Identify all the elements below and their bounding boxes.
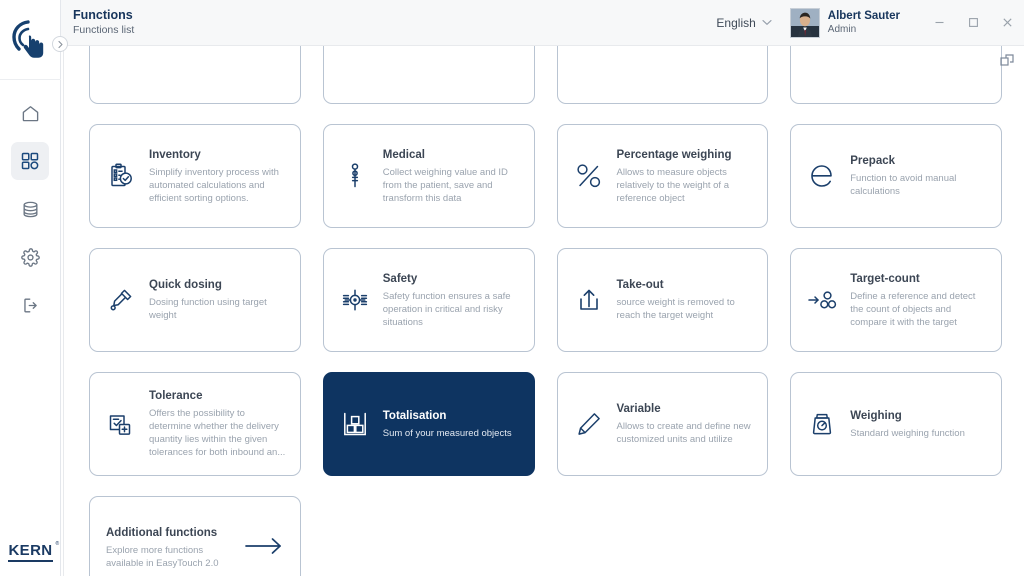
card-body: Take-out source weight is removed to rea… bbox=[617, 278, 756, 322]
pipette-icon bbox=[104, 283, 138, 317]
kern-logo-text: KERN bbox=[8, 542, 52, 559]
maximize-button[interactable] bbox=[956, 7, 990, 39]
card-title: Variable bbox=[617, 402, 756, 417]
percent-icon bbox=[572, 159, 606, 193]
e-mark-icon bbox=[805, 159, 839, 193]
card-description: Dosing function using target weight bbox=[149, 296, 288, 322]
card-body: Totalisation Sum of your measured object… bbox=[383, 409, 512, 440]
function-card-target-count[interactable]: Target-count Define a reference and dete… bbox=[790, 248, 1002, 352]
sidebar-item-database[interactable] bbox=[11, 190, 49, 228]
function-card-quick-dosing[interactable]: Quick dosing Dosing function using targe… bbox=[89, 248, 301, 352]
card-title: Additional functions bbox=[106, 526, 233, 541]
card-description: Explore more functions available in Easy… bbox=[106, 544, 233, 570]
clipboard-check-icon bbox=[104, 159, 138, 193]
card-body: Weighing Standard weighing function bbox=[850, 409, 965, 440]
function-card-take-out[interactable]: Take-out source weight is removed to rea… bbox=[557, 248, 769, 352]
card-description: source weight is removed to reach the ta… bbox=[617, 296, 756, 322]
function-card-clipped[interactable] bbox=[89, 46, 301, 104]
card-title: Quick dosing bbox=[149, 278, 288, 293]
gear-icon bbox=[21, 248, 40, 267]
card-description: Allows to create and define new customiz… bbox=[617, 420, 756, 446]
upload-out-icon bbox=[572, 283, 606, 317]
function-card-medical[interactable]: Medical Collect weighing value and ID fr… bbox=[323, 124, 535, 228]
sidebar-nav bbox=[0, 94, 60, 324]
card-body: Percentage weighing Allows to measure ob… bbox=[617, 148, 756, 205]
user-name: Albert Sauter bbox=[828, 9, 900, 23]
medical-pin-icon bbox=[338, 159, 372, 193]
card-title: Weighing bbox=[850, 409, 965, 424]
card-title: Medical bbox=[383, 148, 522, 163]
database-icon bbox=[21, 200, 40, 219]
function-card-clipped[interactable] bbox=[323, 46, 535, 104]
function-card-tolerance[interactable]: Tolerance Offers the possibility to dete… bbox=[89, 372, 301, 476]
kern-logo: KERN® bbox=[8, 542, 52, 562]
touch-hand-icon bbox=[10, 18, 50, 62]
user-profile[interactable]: Albert Sauter Admin bbox=[790, 8, 900, 38]
card-description: Collect weighing value and ID from the p… bbox=[383, 166, 522, 205]
card-title: Prepack bbox=[850, 154, 989, 169]
function-card-variable[interactable]: Variable Allows to create and define new… bbox=[557, 372, 769, 476]
page-title-block: Functions Functions list bbox=[73, 7, 134, 38]
user-avatar-image bbox=[791, 9, 819, 37]
apps-grid-icon bbox=[20, 151, 40, 171]
sidebar-item-settings[interactable] bbox=[11, 238, 49, 276]
card-body: Additional functions Explore more functi… bbox=[106, 526, 233, 570]
card-title: Tolerance bbox=[149, 389, 288, 404]
sidebar-collapse-toggle[interactable] bbox=[52, 36, 68, 52]
kern-logo-tm: ® bbox=[55, 541, 59, 547]
user-role: Admin bbox=[828, 23, 900, 36]
card-title: Target-count bbox=[850, 272, 989, 287]
card-description: Safety function ensures a safe operation… bbox=[383, 290, 522, 329]
function-card-weighing[interactable]: Weighing Standard weighing function bbox=[790, 372, 1002, 476]
card-description: Define a reference and detect the count … bbox=[850, 290, 989, 329]
card-body: Quick dosing Dosing function using targe… bbox=[149, 278, 288, 322]
function-card-totalisation[interactable]: Totalisation Sum of your measured object… bbox=[323, 372, 535, 476]
application-window: KERN® Functions Functions list English bbox=[0, 0, 1024, 576]
card-description: Standard weighing function bbox=[850, 427, 965, 440]
main-area: Functions Functions list English bbox=[61, 0, 1024, 576]
function-card-inventory[interactable]: Inventory Simplify inventory process wit… bbox=[89, 124, 301, 228]
card-description: Function to avoid manual calculations bbox=[850, 172, 989, 198]
minimize-icon bbox=[934, 17, 945, 28]
close-icon bbox=[1002, 17, 1013, 28]
chevron-right-icon bbox=[57, 40, 64, 49]
language-selector[interactable]: English bbox=[716, 16, 771, 30]
avatar bbox=[790, 8, 820, 38]
expand-window-icon bbox=[1000, 54, 1014, 68]
scale-icon bbox=[805, 407, 839, 441]
chevron-down-icon bbox=[762, 19, 772, 26]
arrow-right-icon bbox=[244, 535, 284, 562]
card-body: Safety Safety function ensures a safe op… bbox=[383, 272, 522, 329]
sidebar: KERN® bbox=[0, 0, 61, 576]
totalisation-boxes-icon bbox=[338, 407, 372, 441]
home-icon bbox=[21, 104, 40, 123]
pencil-icon bbox=[572, 407, 606, 441]
logout-icon bbox=[21, 296, 40, 315]
app-logo[interactable] bbox=[0, 0, 61, 80]
card-title: Percentage weighing bbox=[617, 148, 756, 163]
titlebar: Functions Functions list English bbox=[61, 0, 1024, 45]
function-card-percentage-weighing[interactable]: Percentage weighing Allows to measure ob… bbox=[557, 124, 769, 228]
expand-window-button[interactable] bbox=[998, 52, 1016, 70]
close-button[interactable] bbox=[990, 7, 1024, 39]
card-body: Target-count Define a reference and dete… bbox=[850, 272, 989, 329]
card-description: Simplify inventory process with automate… bbox=[149, 166, 288, 205]
card-body: Tolerance Offers the possibility to dete… bbox=[149, 389, 288, 459]
functions-scroll-area[interactable]: Inventory Simplify inventory process wit… bbox=[64, 46, 1024, 576]
function-card-clipped[interactable] bbox=[790, 46, 1002, 104]
arrow-count-icon bbox=[805, 283, 839, 317]
page-title: Functions bbox=[73, 7, 134, 23]
content-panel: Inventory Simplify inventory process wit… bbox=[63, 45, 1024, 576]
card-body: Variable Allows to create and define new… bbox=[617, 402, 756, 446]
card-title: Inventory bbox=[149, 148, 288, 163]
maximize-icon bbox=[968, 17, 979, 28]
card-description: Offers the possibility to determine whet… bbox=[149, 407, 288, 459]
language-label: English bbox=[716, 16, 755, 30]
card-description: Sum of your measured objects bbox=[383, 427, 512, 440]
sidebar-item-functions[interactable] bbox=[11, 142, 49, 180]
safety-target-icon bbox=[338, 283, 372, 317]
function-card-safety[interactable]: Safety Safety function ensures a safe op… bbox=[323, 248, 535, 352]
user-text: Albert Sauter Admin bbox=[828, 9, 900, 36]
card-body: Prepack Function to avoid manual calcula… bbox=[850, 154, 989, 198]
card-title: Totalisation bbox=[383, 409, 512, 424]
function-card-clipped[interactable] bbox=[557, 46, 769, 104]
page-subtitle: Functions list bbox=[73, 23, 134, 38]
functions-grid: Inventory Simplify inventory process wit… bbox=[89, 46, 1002, 576]
brand-footer: KERN® bbox=[0, 542, 61, 562]
card-title: Safety bbox=[383, 272, 522, 287]
tolerance-check-plus-icon bbox=[104, 407, 138, 441]
window-controls bbox=[922, 7, 1024, 39]
function-card-prepack[interactable]: Prepack Function to avoid manual calcula… bbox=[790, 124, 1002, 228]
minimize-button[interactable] bbox=[922, 7, 956, 39]
card-title: Take-out bbox=[617, 278, 756, 293]
function-card-additional-functions[interactable]: Additional functions Explore more functi… bbox=[89, 496, 301, 576]
card-body: Inventory Simplify inventory process wit… bbox=[149, 148, 288, 205]
card-description: Allows to measure objects relatively to … bbox=[617, 166, 756, 205]
card-body: Medical Collect weighing value and ID fr… bbox=[383, 148, 522, 205]
sidebar-item-logout[interactable] bbox=[11, 286, 49, 324]
sidebar-item-home[interactable] bbox=[11, 94, 49, 132]
